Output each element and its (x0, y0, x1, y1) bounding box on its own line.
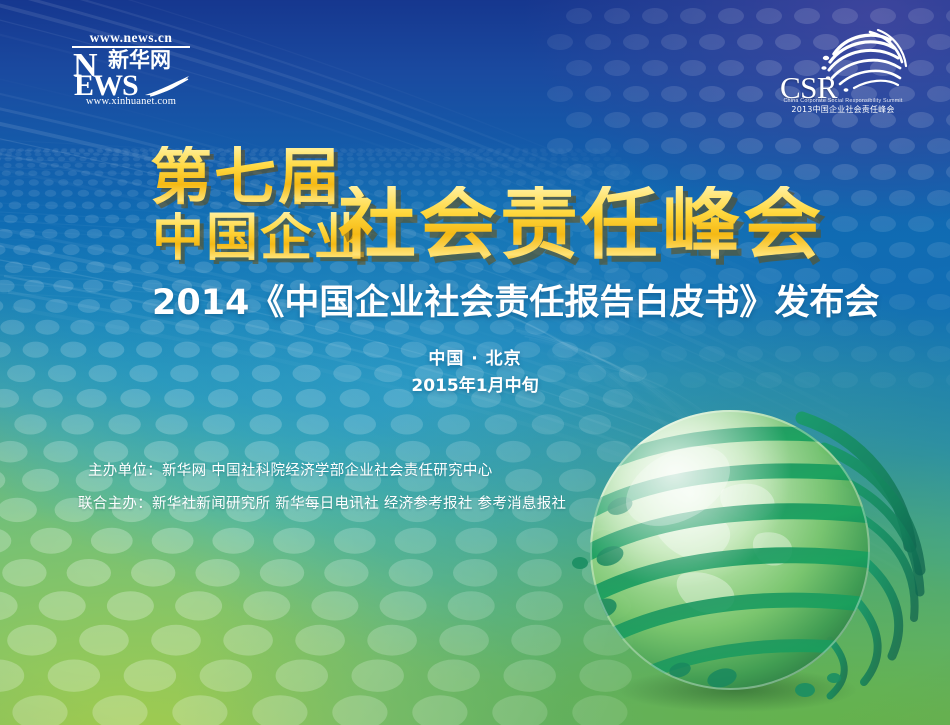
poster-canvas: www.news.cn N EWS 新华网 www.xinhuanet.com (0, 0, 950, 725)
vignette-overlay (0, 0, 950, 725)
